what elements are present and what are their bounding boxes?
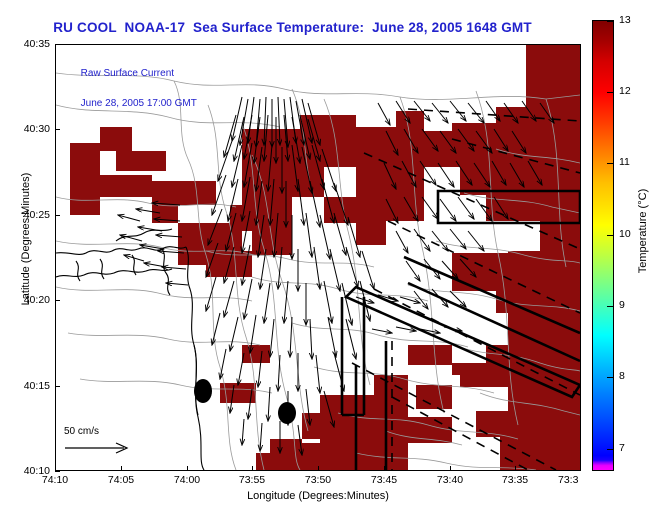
xtick-label-5: 73:45 [359,474,409,486]
xtick-label-4: 73:50 [293,474,343,486]
ytick-4 [55,386,60,387]
cbtick-label-9: 9 [619,299,625,311]
colorbar[interactable] [592,20,614,471]
ytick-label-4: 40:15 [0,380,50,392]
current-annotation-line1: Raw Surface Current [81,68,174,79]
cbtick-label-8: 8 [619,370,625,382]
vector-scale-legend: 50 cm/s [64,426,134,458]
map-plot-area[interactable]: Raw Surface Current June 28, 2005 17:00 … [55,44,581,471]
xtick-8 [580,466,581,471]
xtick-label-3: 73:55 [227,474,277,486]
current-annotation-line2: June 28, 2005 17:00 GMT [81,98,197,109]
xtick-7 [515,466,516,471]
vector-scale-label: 50 cm/s [64,426,134,437]
sst-figure: RU COOL NOAA-17 Sea Surface Temperature:… [0,0,651,515]
xtick-label-6: 73:40 [425,474,475,486]
xtick-label-7: 73:35 [490,474,540,486]
cbtick-9 [607,306,613,307]
ytick-2 [55,215,60,216]
xtick-6 [450,466,451,471]
xtick-label-8: 73:3 [558,474,602,486]
cbtick-label-11: 11 [619,156,630,168]
cbtick-label-10: 10 [619,228,631,240]
ytick-3 [55,300,60,301]
ytick-5 [55,471,60,472]
ytick-1 [55,129,60,130]
xtick-label-2: 74:00 [162,474,212,486]
cbtick-11 [607,163,613,164]
cbtick-7 [607,449,613,450]
xtick-5 [384,466,385,471]
ytick-label-5: 40:10 [0,465,50,477]
cbtick-13 [607,21,613,22]
xtick-2 [187,466,188,471]
cbtick-10 [607,235,613,236]
x-axis-label: Longitude (Degrees:Minutes) [55,490,581,502]
xtick-3 [252,466,253,471]
colorbar-label: Temperature (°C) [637,136,649,326]
figure-title: RU COOL NOAA-17 Sea Surface Temperature:… [0,20,585,35]
cbtick-12 [607,92,613,93]
cbtick-label-12: 12 [619,85,631,97]
y-axis-label: Latitude (Degrees:Minutes) [20,119,32,359]
ytick-label-0: 40:35 [0,38,50,50]
xtick-4 [318,466,319,471]
cbtick-label-13: 13 [619,14,631,26]
cbtick-8 [607,377,613,378]
xtick-label-1: 74:05 [96,474,146,486]
cbtick-label-7: 7 [619,442,625,454]
ytick-0 [55,44,60,45]
arrow-right-icon [64,441,134,455]
xtick-1 [121,466,122,471]
current-annotation: Raw Surface Current June 28, 2005 17:00 … [64,51,197,126]
